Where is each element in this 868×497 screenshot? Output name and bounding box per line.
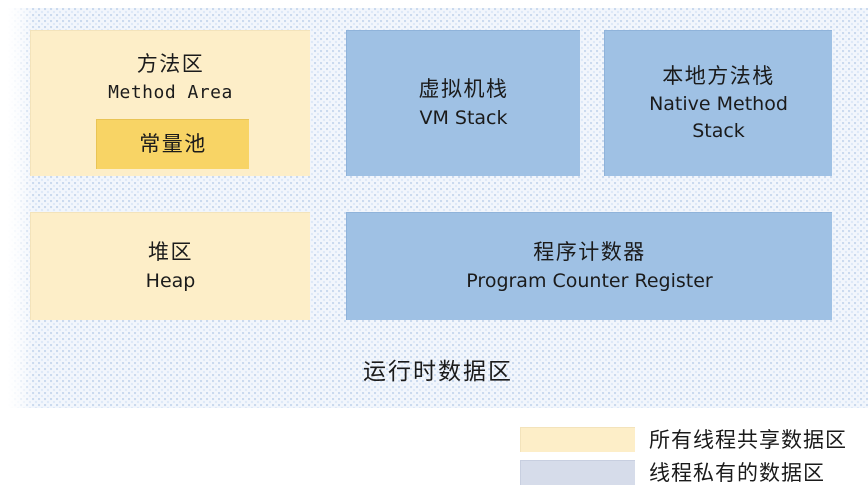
region-heap: 堆区 Heap — [30, 212, 310, 320]
region-native-method-stack: 本地方法栈 Native Method Stack — [604, 30, 832, 176]
vm-stack-label-cn: 虚拟机栈 — [419, 75, 509, 105]
runtime-data-area-container: 方法区 Method Area 常量池 虚拟机栈 VM Stack 本地方法栈 … — [8, 8, 868, 408]
legend-swatch-private — [520, 460, 635, 485]
region-program-counter-register: 程序计数器 Program Counter Register — [346, 212, 832, 320]
constant-pool-label-cn: 常量池 — [139, 130, 207, 160]
legend-label-shared: 所有线程共享数据区 — [649, 424, 847, 454]
region-vm-stack: 虚拟机栈 VM Stack — [346, 30, 580, 176]
legend-swatch-shared — [520, 427, 635, 452]
region-method-area: 方法区 Method Area 常量池 — [30, 30, 310, 176]
method-area-label-cn: 方法区 — [137, 50, 205, 80]
heap-label-en: Heap — [146, 268, 196, 295]
legend: 所有线程共享数据区 线程私有的数据区 — [520, 424, 860, 490]
runtime-data-area-caption: 运行时数据区 — [8, 356, 868, 389]
legend-item-private: 线程私有的数据区 — [520, 457, 860, 487]
pc-register-label-en: Program Counter Register — [466, 268, 712, 295]
native-method-stack-label-en-line1: Native Method — [649, 91, 788, 118]
pc-register-label-cn: 程序计数器 — [533, 238, 646, 268]
heap-label-cn: 堆区 — [148, 238, 193, 268]
legend-item-shared: 所有线程共享数据区 — [520, 424, 860, 454]
region-constant-pool: 常量池 — [96, 119, 249, 169]
native-method-stack-label-cn: 本地方法栈 — [662, 62, 775, 92]
method-area-label-en: Method Area — [108, 80, 233, 106]
legend-label-private: 线程私有的数据区 — [649, 457, 825, 487]
native-method-stack-label-en-line2: Stack — [692, 118, 745, 145]
vm-stack-label-en: VM Stack — [419, 105, 507, 132]
